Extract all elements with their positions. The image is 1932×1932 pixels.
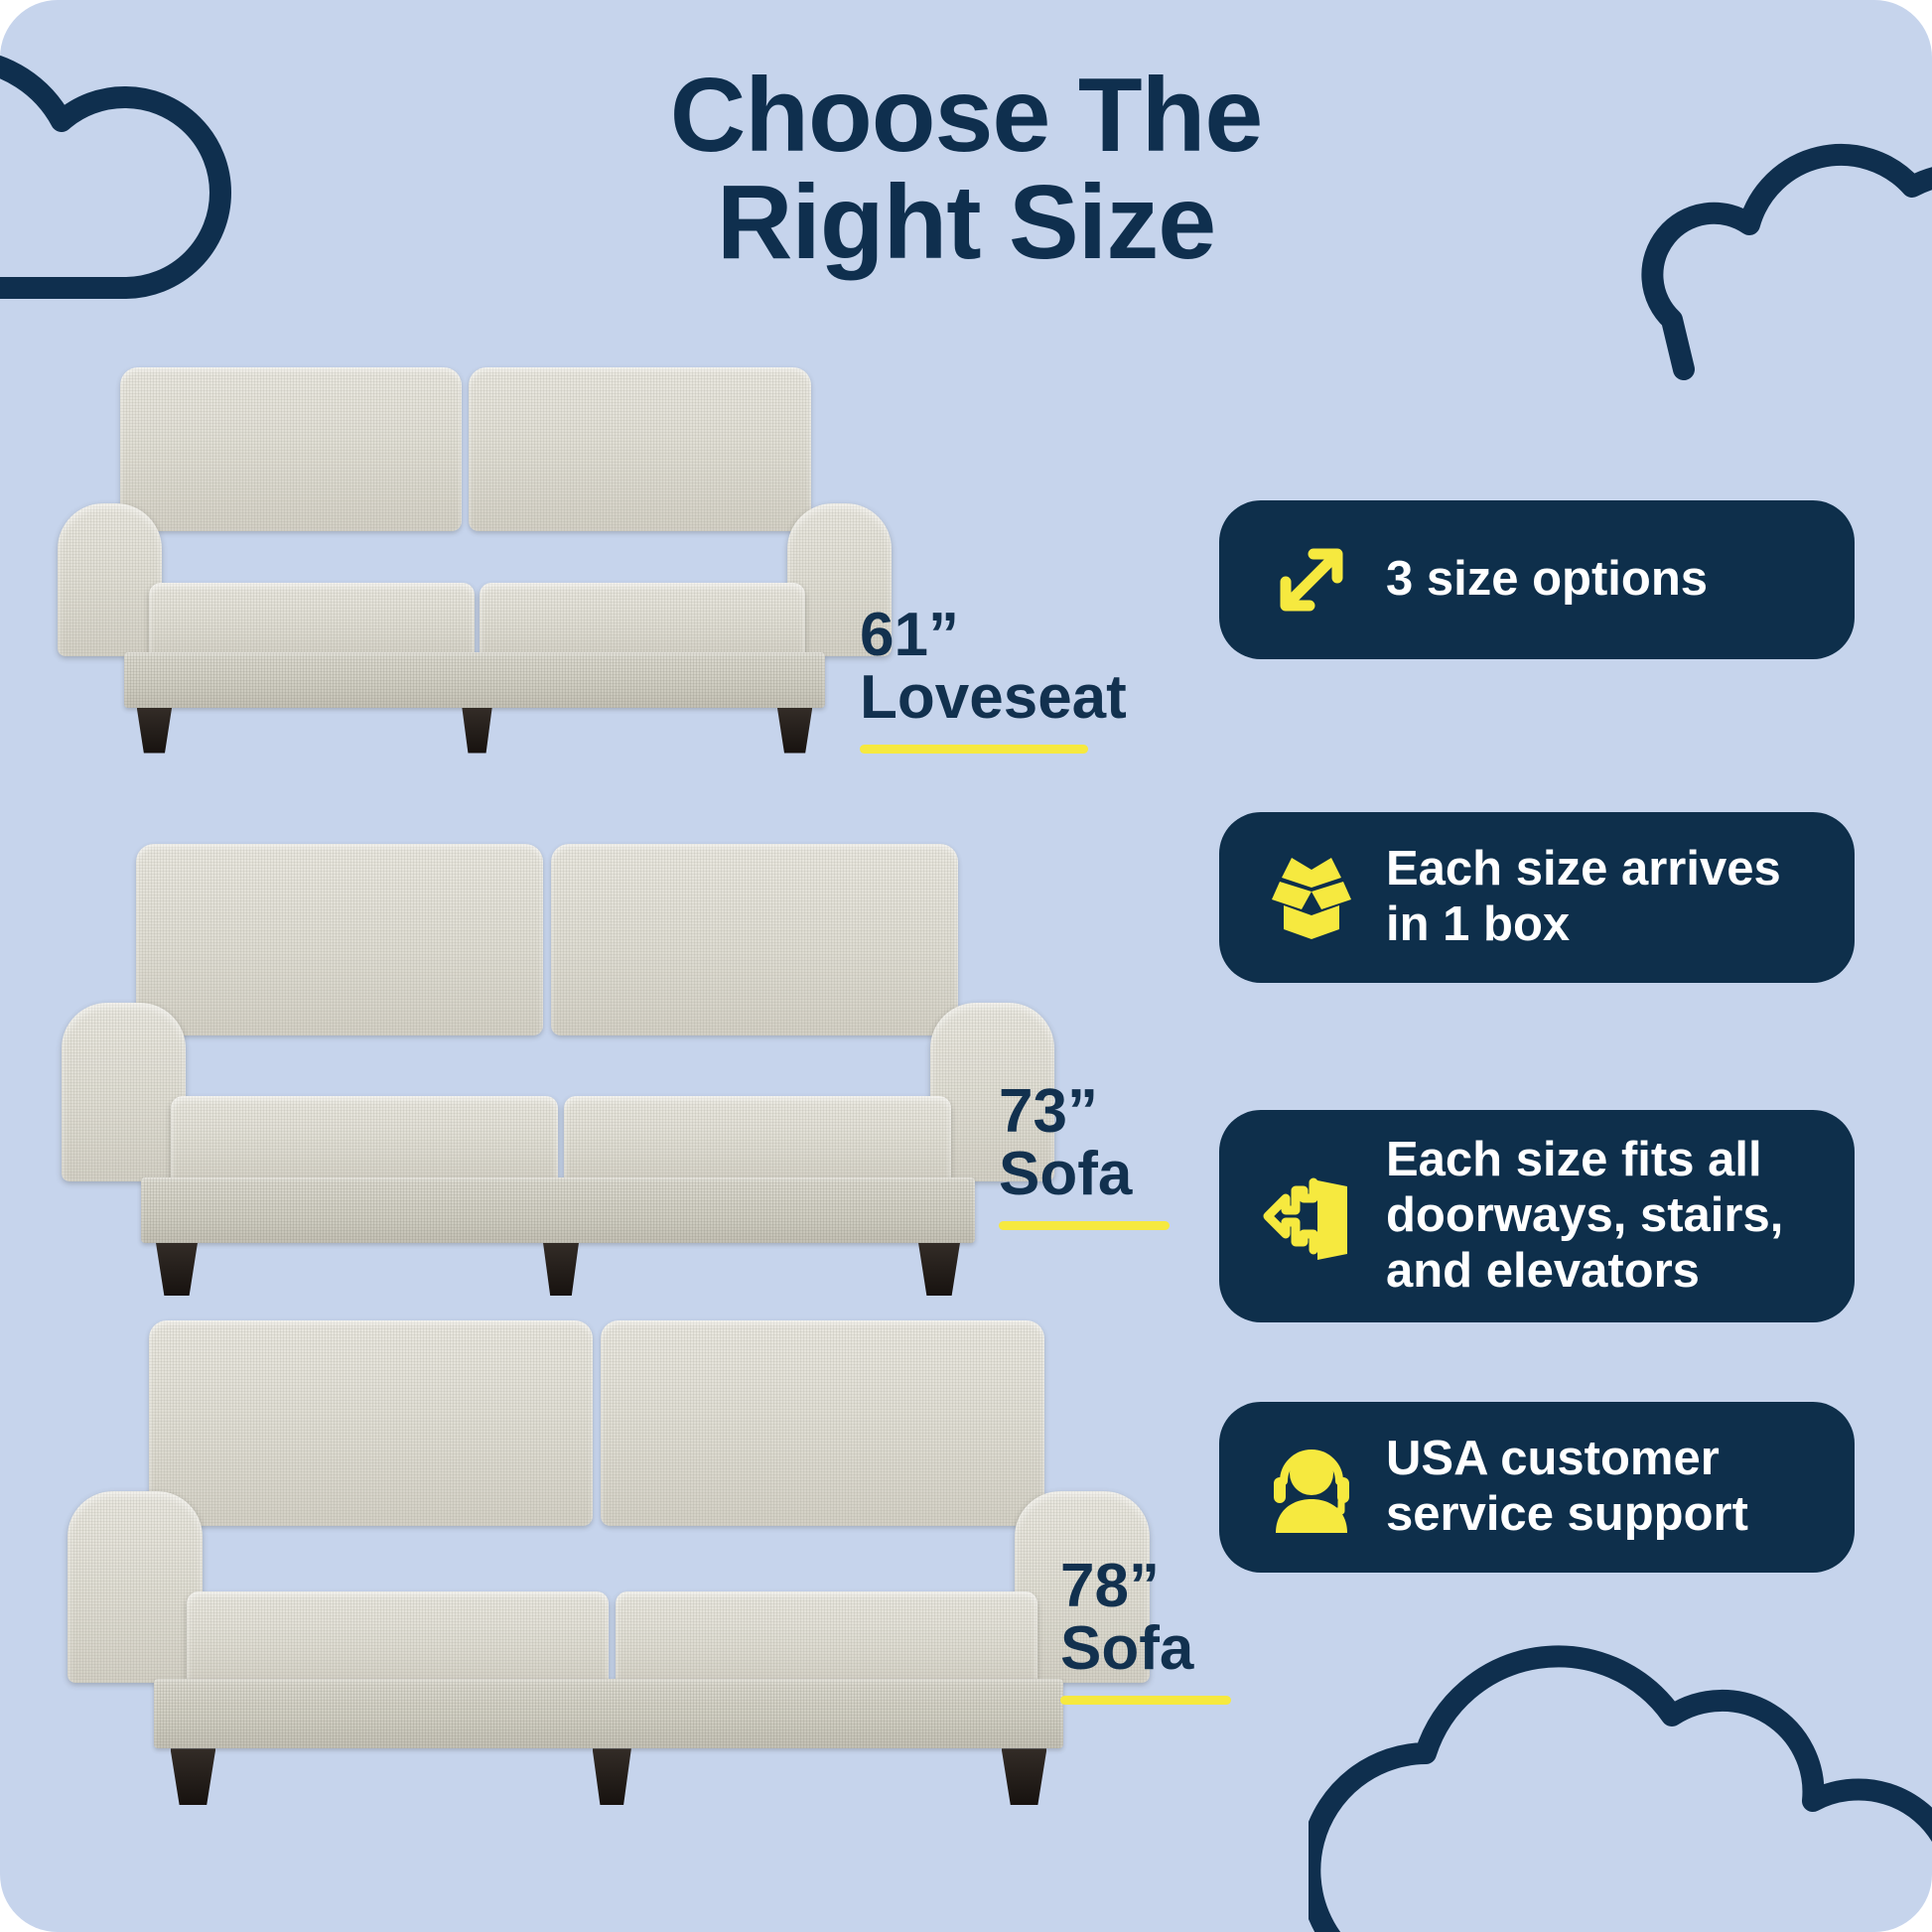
- feature-badge-size-options[interactable]: 3 size options: [1219, 500, 1855, 659]
- size-name: Sofa: [1060, 1617, 1231, 1680]
- back-cushion-left: [120, 367, 462, 531]
- feature-label: 3 size options: [1386, 552, 1708, 608]
- feature-label: Each size fits all doorways, stairs, and…: [1386, 1133, 1783, 1300]
- resize-arrows-icon: [1253, 532, 1370, 627]
- feature-badge-fits-doorways[interactable]: Each size fits all doorways, stairs, and…: [1219, 1110, 1855, 1322]
- sofa-leg: [156, 1243, 198, 1296]
- seat-cushion-right: [480, 583, 805, 659]
- size-name: Loveseat: [860, 666, 1088, 729]
- size-name: Sofa: [999, 1143, 1170, 1205]
- product-image-sofa-78: [68, 1320, 1150, 1757]
- sofa-leg: [462, 708, 491, 754]
- open-box-icon: [1253, 848, 1370, 947]
- seat-cushion-right: [616, 1591, 1037, 1688]
- sofa-base: [141, 1177, 975, 1243]
- product-image-loveseat-61: [58, 367, 892, 715]
- seat-cushion-right: [564, 1096, 951, 1185]
- door-entry-icon: [1253, 1167, 1370, 1266]
- sofa-leg: [137, 708, 172, 754]
- headset-agent-icon: [1253, 1438, 1370, 1537]
- feature-badge-one-box[interactable]: Each size arrives in 1 box: [1219, 812, 1855, 983]
- back-cushion-right: [551, 844, 958, 1035]
- size-label-sofa-78: 78” Sofa: [1060, 1555, 1231, 1705]
- arm-left: [68, 1491, 203, 1684]
- sofa-leg: [171, 1748, 216, 1805]
- size-label-sofa-73: 73” Sofa: [999, 1080, 1170, 1230]
- page-title: Choose The Right Size: [0, 62, 1932, 276]
- arm-left: [62, 1003, 186, 1181]
- size-label-loveseat-61: 61” Loveseat: [860, 604, 1088, 754]
- seat-cushion-left: [149, 583, 475, 659]
- back-cushion-right: [601, 1320, 1044, 1526]
- seat-cushion-left: [171, 1096, 558, 1185]
- title-line-2: Right Size: [0, 169, 1932, 276]
- arm-left: [58, 503, 162, 656]
- title-line-1: Choose The: [0, 62, 1932, 169]
- cloud-outline-icon: [1309, 1594, 1932, 1932]
- product-image-sofa-73: [62, 844, 1054, 1251]
- sofa-leg: [593, 1748, 631, 1805]
- size-dimension: 61”: [860, 604, 1088, 666]
- sofa-leg: [777, 708, 812, 754]
- size-underline: [999, 1221, 1170, 1230]
- sofa-base: [154, 1679, 1063, 1748]
- feature-badge-customer-support[interactable]: USA customer service support: [1219, 1402, 1855, 1573]
- sofa-leg: [918, 1243, 960, 1296]
- size-dimension: 73”: [999, 1080, 1170, 1143]
- size-dimension: 78”: [1060, 1555, 1231, 1617]
- back-cushion-left: [149, 1320, 593, 1526]
- size-underline: [1060, 1696, 1231, 1705]
- sofa-leg: [543, 1243, 579, 1296]
- sofa-base: [124, 652, 825, 708]
- back-cushion-left: [136, 844, 543, 1035]
- size-underline: [860, 745, 1088, 754]
- back-cushion-right: [469, 367, 810, 531]
- sofa-leg: [1002, 1748, 1047, 1805]
- seat-cushion-left: [187, 1591, 609, 1688]
- feature-label: USA customer service support: [1386, 1432, 1748, 1543]
- infographic-canvas: Choose The Right Size 61” Loveseat: [0, 0, 1932, 1932]
- feature-label: Each size arrives in 1 box: [1386, 842, 1781, 953]
